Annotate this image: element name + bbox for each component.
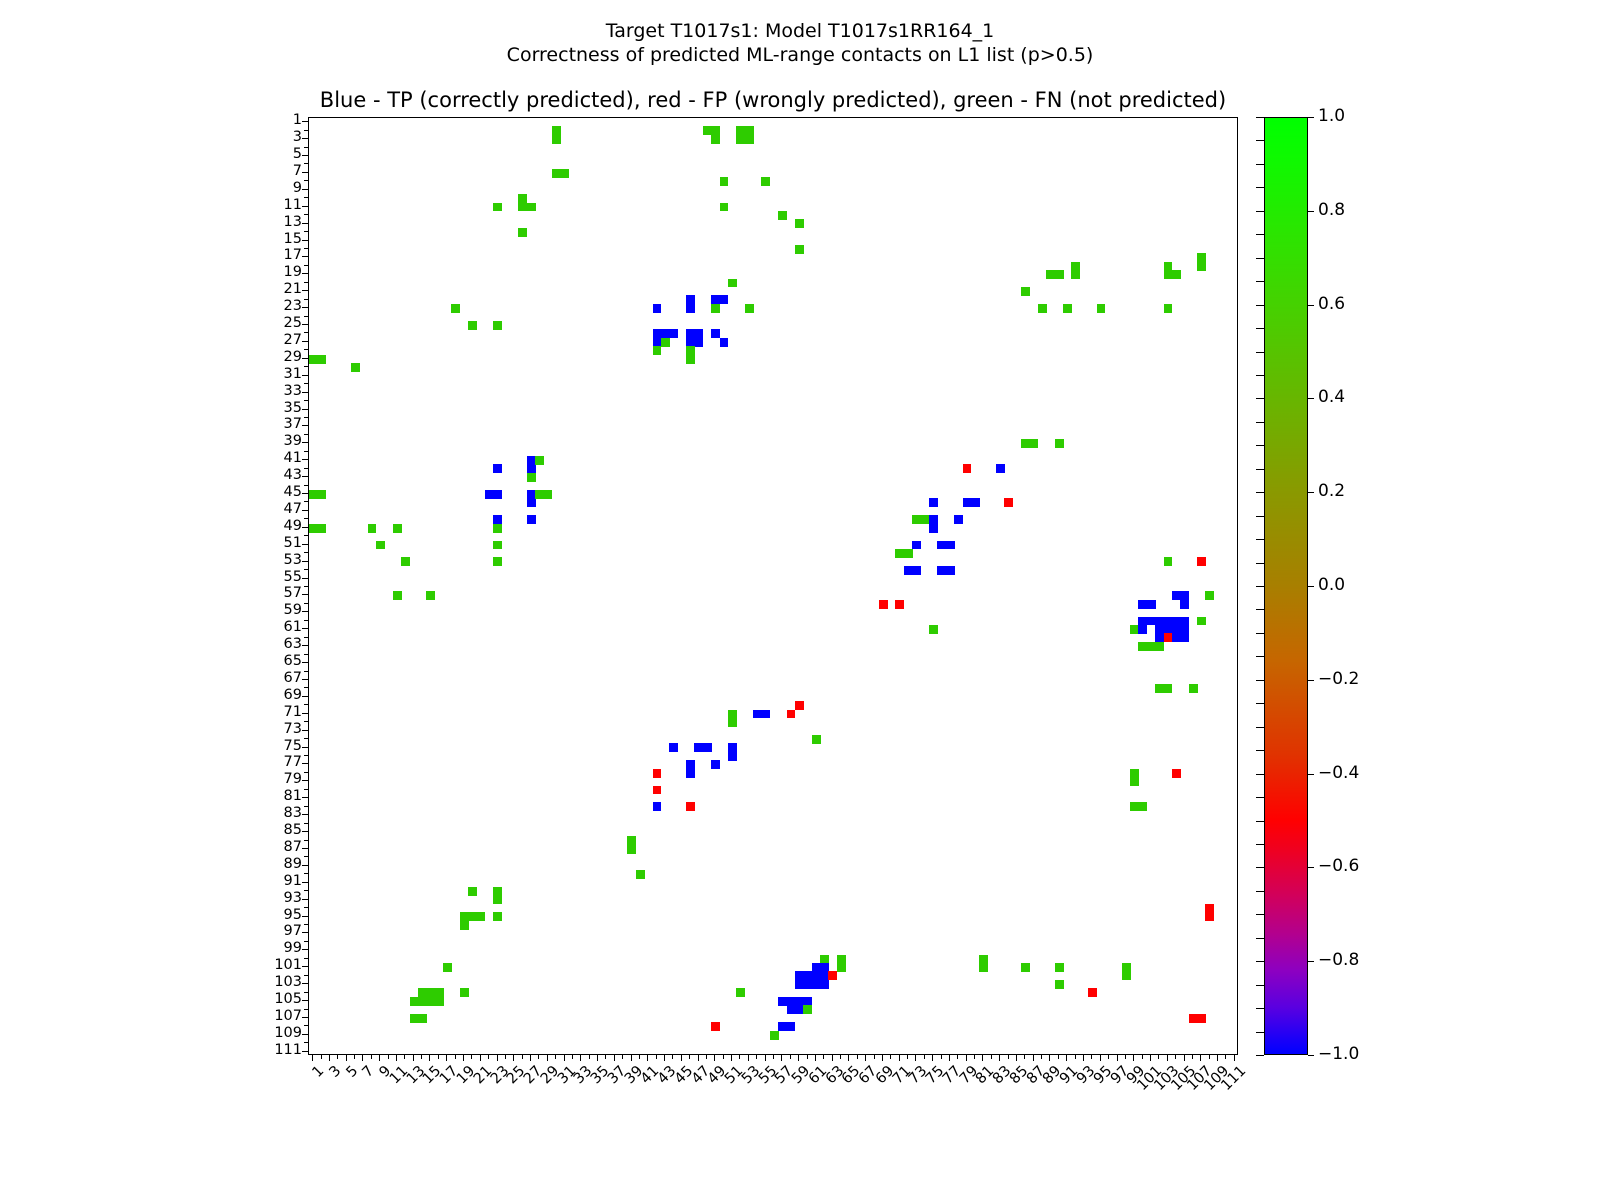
contact-cell-tp [720,295,729,304]
y-tick-label: 47 [238,501,302,517]
x-tick-mark [1175,1055,1176,1059]
x-tick-mark [1167,1055,1168,1061]
contact-cell-fn [1164,304,1173,313]
y-tick-label: 79 [238,771,302,787]
colorbar-minor-tick [1256,234,1264,235]
x-tick-mark [857,1055,858,1059]
colorbar-tick-label: 0.8 [1318,200,1345,220]
contact-cell-fn [477,912,486,921]
x-tick-mark [471,1055,472,1059]
colorbar-minor-tick [1256,867,1264,868]
contact-cell-fn [376,541,385,550]
contact-map-plot[interactable] [308,117,1238,1055]
y-tick-mark [304,721,308,722]
y-tick-label: 85 [238,822,302,838]
contact-cell-fn [317,490,326,499]
contact-cell-fn [552,135,561,144]
x-tick-mark [723,1055,724,1059]
contact-cell-fn [317,524,326,533]
x-tick-mark [1091,1055,1092,1059]
y-tick-label: 99 [238,940,302,956]
contact-cell-fp [653,769,662,778]
x-tick-mark [396,1055,397,1061]
y-tick-label: 45 [238,484,302,500]
x-tick-mark [1016,1055,1017,1061]
contact-cell-fn [1164,684,1173,693]
colorbar-tick-mark [1308,1055,1314,1056]
x-tick-mark [781,1055,782,1061]
axes-title: Blue - TP (correctly predicted), red - F… [308,88,1238,112]
x-tick-mark [379,1055,380,1061]
colorbar-minor-tick [1256,516,1264,517]
x-tick-mark [1058,1055,1059,1059]
y-tick-label: 69 [238,687,302,703]
y-tick-label: 13 [238,214,302,230]
x-tick-mark [463,1055,464,1061]
y-tick-mark [304,907,308,908]
y-tick-mark [304,468,308,469]
x-tick-mark [848,1055,849,1061]
y-tick-mark [302,256,308,257]
contact-cell-fn [627,845,636,854]
y-tick-mark [304,941,308,942]
colorbar-tick-mark [1308,961,1314,962]
y-tick-mark [302,459,308,460]
x-tick-mark [706,1055,707,1059]
contact-cell-fn [1021,287,1030,296]
colorbar-minor-tick [1256,258,1264,259]
colorbar-minor-tick [1256,352,1264,353]
x-tick-mark [765,1055,766,1061]
x-tick-mark [446,1055,447,1061]
contact-cell-fn [778,211,787,220]
x-tick-mark [488,1055,489,1059]
contact-cell-fn [435,997,444,1006]
contact-cell-tp [929,498,938,507]
x-tick-mark [455,1055,456,1059]
contact-cell-tp [686,304,695,313]
y-tick-mark [304,163,308,164]
contact-cell-tp [527,515,536,524]
y-tick-label: 87 [238,839,302,855]
y-tick-label: 49 [238,518,302,534]
y-tick-mark [302,696,308,697]
y-tick-mark [302,223,308,224]
contact-cell-tp [787,1022,796,1031]
contact-cell-fn [795,219,804,228]
contact-cell-fp [1172,769,1181,778]
colorbar-minor-tick [1256,328,1264,329]
y-tick-label: 73 [238,721,302,737]
y-tick-label: 53 [238,552,302,568]
x-tick-mark [1041,1055,1042,1059]
y-tick-mark [302,358,308,359]
y-tick-mark [302,375,308,376]
contact-cell-tp [1180,633,1189,642]
colorbar-tick-mark [1308,586,1314,587]
colorbar-tick-label: −0.8 [1318,950,1359,970]
x-tick-mark [1125,1055,1126,1059]
contact-cell-tp [912,541,921,550]
contact-cell-fn [1164,557,1173,566]
x-tick-mark [1209,1055,1210,1059]
contact-cell-fp [963,464,972,473]
colorbar-minor-tick [1256,117,1264,118]
contact-cell-fn [761,177,770,186]
y-tick-label: 31 [238,366,302,382]
contact-cell-tp [653,802,662,811]
y-tick-label: 67 [238,670,302,686]
y-tick-label: 111 [238,1042,302,1058]
contact-cell-tp [929,524,938,533]
y-tick-mark [302,240,308,241]
colorbar-minor-tick [1256,656,1264,657]
x-tick-mark [957,1055,958,1059]
x-tick-mark [429,1055,430,1061]
contact-cell-fp [895,600,904,609]
contact-cell-tp [527,498,536,507]
contact-cell-tp [946,541,955,550]
colorbar-minor-tick [1256,164,1264,165]
contact-cell-fn [527,473,536,482]
colorbar-minor-tick [1256,914,1264,915]
contact-cell-fn [1138,802,1147,811]
contact-cell-fn [393,524,402,533]
colorbar-tick-label: 1.0 [1318,106,1345,126]
x-tick-mark [1083,1055,1084,1061]
x-tick-mark [1200,1055,1201,1061]
y-tick-mark [302,493,308,494]
contact-cell-tp [493,490,502,499]
y-tick-mark [304,806,308,807]
y-tick-label: 57 [238,585,302,601]
contact-cell-fp [711,1022,720,1031]
colorbar-tick-mark [1308,680,1314,681]
y-tick-mark [302,983,308,984]
y-tick-label: 3 [238,129,302,145]
colorbar-minor-tick [1256,539,1264,540]
contact-cell-tp [971,498,980,507]
colorbar-minor-tick [1256,938,1264,939]
contact-cell-tp [686,769,695,778]
contact-cell-fn [368,524,377,533]
y-tick-mark [302,138,308,139]
y-tick-mark [304,265,308,266]
contact-cell-tp [711,760,720,769]
contact-cell-fp [1004,498,1013,507]
contact-cell-fn [493,895,502,904]
colorbar-minor-tick [1256,891,1264,892]
y-tick-mark [304,637,308,638]
y-tick-label: 107 [238,1008,302,1024]
contact-cell-fn [1189,684,1198,693]
y-tick-mark [304,434,308,435]
y-tick-mark [304,518,308,519]
y-tick-label: 89 [238,856,302,872]
x-tick-mark [589,1055,590,1059]
y-tick-mark [304,840,308,841]
x-tick-mark [513,1055,514,1061]
y-tick-mark [302,527,308,528]
contact-cell-fn [1055,963,1064,972]
y-tick-mark [304,299,308,300]
y-tick-label: 21 [238,281,302,297]
y-tick-mark [302,628,308,629]
y-tick-mark [304,501,308,502]
colorbar-tick-mark [1308,211,1314,212]
y-tick-label: 61 [238,619,302,635]
y-tick-mark [302,763,308,764]
y-tick-label: 63 [238,636,302,652]
y-tick-mark [304,569,308,570]
x-tick-mark [773,1055,774,1059]
contact-cell-fn [1055,980,1064,989]
colorbar-tick-mark [1308,774,1314,775]
y-tick-mark [304,890,308,891]
y-tick-label: 65 [238,653,302,669]
x-tick-mark [924,1055,925,1059]
contact-cell-fn [837,963,846,972]
colorbar-minor-tick [1256,187,1264,188]
contact-cell-fn [1155,642,1164,651]
y-tick-mark [302,121,308,122]
x-tick-mark [1033,1055,1034,1061]
contact-cell-fp [795,701,804,710]
colorbar-minor-tick [1256,492,1264,493]
contact-cell-fp [828,971,837,980]
y-tick-label: 15 [238,231,302,247]
contact-cell-fn [493,321,502,330]
y-tick-mark [304,366,308,367]
y-tick-mark [304,485,308,486]
contact-cell-fn [1172,270,1181,279]
x-tick-mark [321,1055,322,1059]
colorbar-gradient [1264,117,1308,1055]
contact-cell-fn [493,541,502,550]
colorbar-minor-tick [1256,140,1264,141]
contact-cell-fn [812,735,821,744]
colorbar-tick-label: −0.6 [1318,856,1359,876]
contact-cell-fn [720,203,729,212]
contact-cell-fn [1122,971,1131,980]
y-tick-mark [304,383,308,384]
y-tick-mark [302,425,308,426]
y-tick-label: 19 [238,264,302,280]
contact-cell-tp [703,743,712,752]
colorbar-minor-tick [1256,469,1264,470]
x-tick-mark [840,1055,841,1059]
y-tick-mark [302,155,308,156]
contact-cell-fp [1205,912,1214,921]
x-tick-mark [689,1055,690,1059]
y-tick-label: 27 [238,332,302,348]
contact-cell-tp [912,566,921,575]
x-tick-mark [530,1055,531,1061]
contact-cell-fn [518,228,527,237]
y-tick-mark [304,738,308,739]
y-tick-mark [302,797,308,798]
figure-canvas: Target T1017s1: Model T1017s1RR164_1 Cor… [0,0,1600,1200]
contact-cell-fn [317,355,326,364]
y-tick-mark [304,1042,308,1043]
contact-cell-fn [468,887,477,896]
colorbar-tick-label: 0.4 [1318,387,1345,407]
contact-cell-fn [1030,439,1039,448]
colorbar-minor-tick [1256,633,1264,634]
x-tick-mark [522,1055,523,1059]
contact-cell-fn [720,177,729,186]
colorbar-minor-tick [1256,422,1264,423]
x-tick-mark [1184,1055,1185,1061]
y-tick-mark [304,214,308,215]
x-tick-mark [899,1055,900,1061]
y-tick-mark [304,231,308,232]
y-tick-mark [304,1025,308,1026]
x-tick-mark [337,1055,338,1059]
y-tick-mark [302,645,308,646]
contact-cell-fn [711,304,720,313]
contact-cell-fn [1197,617,1206,626]
colorbar-tick-mark [1308,492,1314,493]
y-tick-label: 7 [238,163,302,179]
x-tick-mark [756,1055,757,1059]
contact-cell-fn [1021,963,1030,972]
contact-cell-fn [736,988,745,997]
y-tick-label: 71 [238,704,302,720]
contact-cell-fn [770,1031,779,1040]
contact-cell-fn [544,490,553,499]
y-tick-mark [302,747,308,748]
y-tick-mark [304,789,308,790]
contact-cell-fp [653,786,662,795]
y-tick-mark [302,679,308,680]
colorbar[interactable]: 1.00.80.60.40.20.0−0.2−0.4−0.6−0.8−1.0 [1264,117,1308,1055]
y-tick-mark [302,476,308,477]
colorbar-minor-tick [1256,281,1264,282]
y-tick-label: 17 [238,247,302,263]
y-tick-mark [304,772,308,773]
colorbar-tick-mark [1308,867,1314,868]
x-tick-mark [1150,1055,1151,1061]
y-tick-mark [302,1034,308,1035]
y-tick-label: 83 [238,805,302,821]
contact-cell-fn [493,912,502,921]
contact-cell-fn [686,355,695,364]
x-tick-mark [748,1055,749,1061]
y-tick-label: 81 [238,788,302,804]
contact-cell-fn [745,304,754,313]
y-tick-mark [304,130,308,131]
colorbar-minor-tick [1256,797,1264,798]
contact-cell-fn [460,988,469,997]
y-tick-mark [304,316,308,317]
y-tick-mark [302,442,308,443]
x-tick-mark [564,1055,565,1061]
contact-cell-fn [560,169,569,178]
colorbar-minor-tick [1256,750,1264,751]
x-tick-mark [555,1055,556,1059]
y-tick-mark [304,349,308,350]
y-tick-mark [302,882,308,883]
x-tick-mark [312,1055,313,1061]
x-tick-mark [941,1055,942,1059]
contact-cell-tp [761,710,770,719]
y-tick-label: 37 [238,416,302,432]
x-tick-mark [1066,1055,1067,1061]
x-tick-mark [932,1055,933,1061]
x-tick-mark [807,1055,808,1059]
contact-cell-fn [728,279,737,288]
y-tick-label: 97 [238,923,302,939]
y-tick-mark [302,578,308,579]
y-tick-label: 25 [238,315,302,331]
x-tick-mark [1158,1055,1159,1059]
y-tick-mark [302,730,308,731]
x-tick-mark [672,1055,673,1059]
x-tick-mark [1142,1055,1143,1059]
contact-cell-fn [711,135,720,144]
x-tick-mark [1075,1055,1076,1059]
y-tick-mark [304,620,308,621]
y-tick-label: 11 [238,197,302,213]
y-tick-mark [304,197,308,198]
contact-cell-fn [795,245,804,254]
y-tick-mark [304,823,308,824]
contact-cell-fn [493,524,502,533]
x-tick-mark [949,1055,950,1061]
y-tick-mark [302,561,308,562]
contact-cell-fn [1038,304,1047,313]
contact-cell-fn [929,625,938,634]
contact-cell-fn [1055,439,1064,448]
x-tick-mark [413,1055,414,1061]
contact-cell-tp [653,304,662,313]
y-tick-mark [304,924,308,925]
x-tick-mark [354,1055,355,1059]
x-tick-mark [982,1055,983,1061]
colorbar-minor-tick [1256,211,1264,212]
y-tick-mark [304,147,308,148]
contact-cell-tp [669,329,678,338]
colorbar-minor-tick [1256,586,1264,587]
y-tick-label: 39 [238,433,302,449]
colorbar-minor-tick [1256,1055,1264,1056]
x-tick-mark [1217,1055,1218,1061]
y-tick-label: 101 [238,957,302,973]
y-tick-mark [304,332,308,333]
y-tick-mark [302,510,308,511]
x-tick-mark [547,1055,548,1061]
contact-cell-tp [728,752,737,761]
y-tick-mark [304,755,308,756]
colorbar-minor-tick [1256,563,1264,564]
colorbar-minor-tick [1256,680,1264,681]
y-tick-mark [302,865,308,866]
y-tick-mark [302,172,308,173]
y-tick-mark [302,662,308,663]
x-tick-mark [597,1055,598,1061]
x-tick-mark [907,1055,908,1059]
x-tick-mark [1024,1055,1025,1059]
y-tick-mark [302,814,308,815]
y-tick-mark [302,848,308,849]
x-tick-mark [1117,1055,1118,1061]
colorbar-tick-label: 0.0 [1318,575,1345,595]
y-tick-mark [302,1000,308,1001]
colorbar-tick-label: 0.2 [1318,481,1345,501]
contact-cell-tp [946,566,955,575]
contact-cell-fn [1097,304,1106,313]
